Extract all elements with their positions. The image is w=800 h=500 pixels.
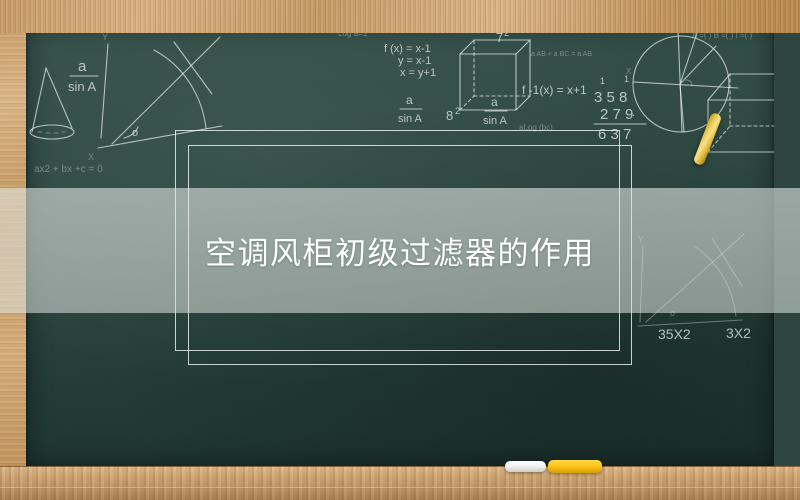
cube-right <box>708 74 774 152</box>
svg-text:a: a <box>78 58 87 75</box>
svg-text:Y: Y <box>102 32 108 42</box>
svg-text:.: . <box>632 107 635 119</box>
svg-text:y = x-1: y = x-1 <box>398 55 431 67</box>
svg-text:3 5 8: 3 5 8 <box>594 89 627 106</box>
svg-text:2 7 9: 2 7 9 <box>600 106 633 123</box>
svg-text:ax2 + bx +c = 0: ax2 + bx +c = 0 <box>34 164 103 175</box>
frame-bottom <box>0 0 800 33</box>
svg-text:35X2: 35X2 <box>658 326 691 342</box>
svg-text:3X2: 3X2 <box>726 325 751 341</box>
chalk-ledge-lip <box>0 487 800 489</box>
svg-text:1: 1 <box>600 76 605 86</box>
circle-with-radii: X <box>626 28 738 132</box>
svg-text:x = y+1: x = y+1 <box>400 67 436 79</box>
chalk-ledge <box>0 466 800 500</box>
svg-text:X: X <box>88 152 94 162</box>
svg-text:a: a <box>491 95 498 109</box>
svg-text:o: o <box>132 127 138 139</box>
svg-text:2: 2 <box>455 106 460 116</box>
svg-text:X: X <box>626 67 632 76</box>
svg-text:f -1(x) = x+1: f -1(x) = x+1 <box>522 83 587 97</box>
svg-text:a: a <box>406 93 413 107</box>
svg-text:sin A: sin A <box>68 79 97 94</box>
yellow-chalk-tray-icon <box>548 460 602 473</box>
svg-text:8: 8 <box>446 108 453 123</box>
white-chalk-icon <box>505 461 546 472</box>
svg-text:sin A: sin A <box>398 113 423 125</box>
chalkboard-poster: a sin A ax2 + bx +c = 0 Y X o <box>0 0 800 500</box>
svg-text:sin A: sin A <box>483 115 508 127</box>
svg-text:f (x) = x-1: f (x) = x-1 <box>384 43 431 55</box>
function-notes: f (x) = x-1 y = x-1 x = y+1 <box>384 43 436 79</box>
svg-text:a AB + a BC = a AB: a AB + a BC = a AB <box>531 51 592 58</box>
page-title: 空调风柜初级过滤器的作用 <box>0 188 800 313</box>
